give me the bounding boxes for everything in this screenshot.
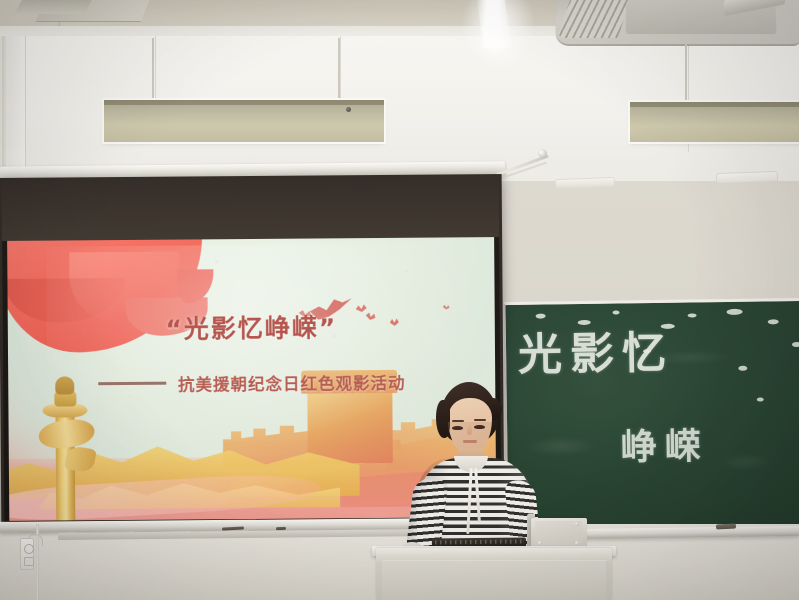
classroom-scene: 光影忆 峥嵘 [0,0,799,600]
presenter-eye-left [452,426,463,430]
fluorescent-tube-tip-glow [487,41,505,53]
chalkboard-text-line-1: 光影忆 [518,316,675,382]
presenter [410,382,540,562]
wall-mounted-air-conditioner [555,0,799,46]
slide-title: “光影忆峥嵘” [8,307,495,347]
fixture-screw [346,107,351,112]
air-conditioner-louvre [558,0,631,38]
monitor-screw [575,522,579,526]
fixture-pocket-shadow [104,100,384,105]
flag-tip [177,269,213,303]
presenter-hair-side [436,400,450,438]
presenter-nose [467,426,472,435]
slide-subtitle: 抗美援朝纪念日红色观影活动 [178,369,406,395]
huabiao-cloud-board [37,417,96,451]
ceiling-vent-panel-secondary [14,0,92,14]
chalk-piece[interactable] [716,523,736,529]
huabiao-wing-ornament [64,445,97,474]
fixture-pocket-shadow [630,102,799,107]
wall-mounted-handle-secondary[interactable] [716,171,778,184]
wall-pilaster-left [0,36,26,176]
huabiao-column-graphic [28,375,102,521]
monitor-screw [575,541,579,545]
slide-subtitle-dash [98,382,166,385]
monitor-screw [538,541,542,545]
chalk-piece[interactable] [276,527,286,531]
lectern-front-panel [382,560,606,600]
bracket-knob [538,149,547,158]
chalkboard-text-line-2: 峥嵘 [620,417,709,470]
recessed-light-fixture-left [104,100,384,142]
light-fixture-rod [338,38,340,100]
presenter-eye-right [474,425,485,429]
power-outlet[interactable] [20,538,34,570]
wall-mounted-handle[interactable] [555,177,615,189]
great-wall-watchtower [307,387,392,463]
recessed-light-fixture-right [630,102,799,142]
light-fixture-rod [152,38,154,100]
green-chalkboard: 光影忆 峥嵘 [503,298,799,534]
projection-screen-bracket [494,148,552,180]
light-fixture-rod [685,42,687,104]
screen-letterbox-band [2,177,499,241]
presenter-mouth [463,440,477,443]
